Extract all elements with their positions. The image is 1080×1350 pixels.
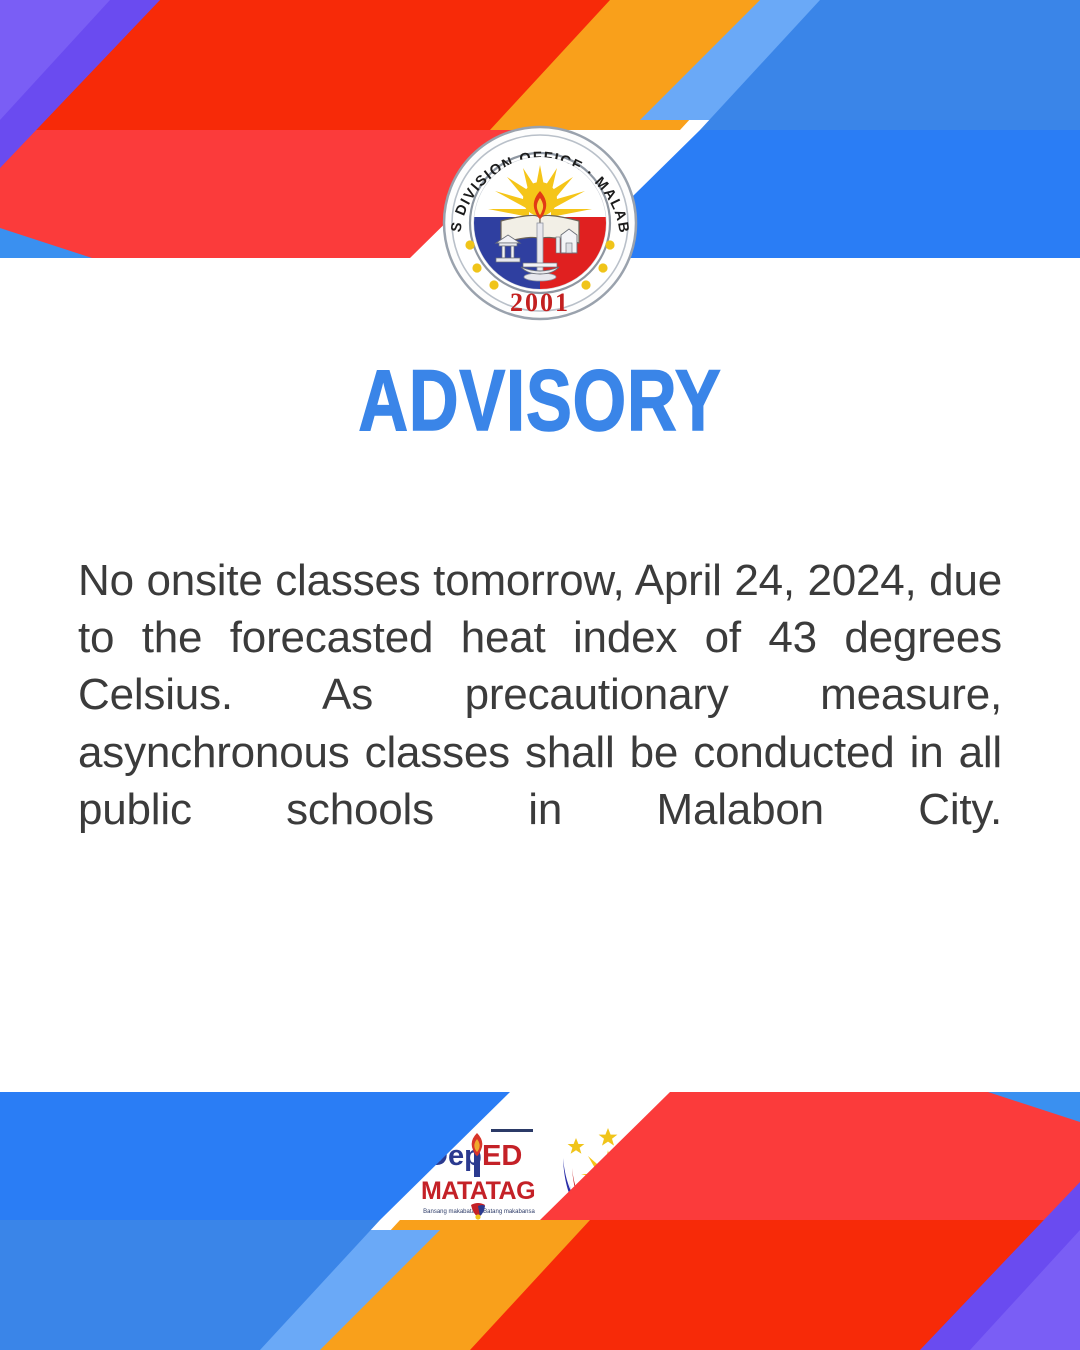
bottom-decoration-banner (0, 1090, 1080, 1350)
svg-text:2001: 2001 (510, 288, 570, 317)
page-title: ADVISORY (108, 358, 972, 444)
division-seal: SCHOOLS DIVISION OFFICE · MALABON CITY (439, 125, 641, 321)
advisory-poster: SCHOOLS DIVISION OFFICE · MALABON CITY (0, 0, 1080, 1350)
advisory-body-text: No onsite classes tomorrow, April 24, 20… (78, 552, 1002, 895)
